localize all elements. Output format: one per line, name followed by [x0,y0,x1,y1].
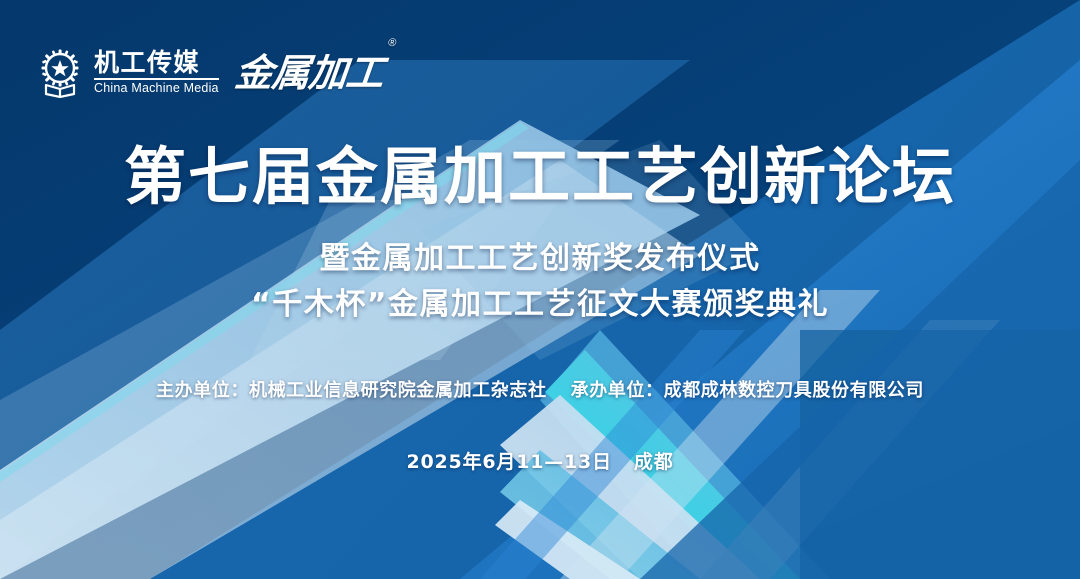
brand-divider [94,78,219,80]
co-host-label: 承办单位： [571,380,664,401]
event-poster: 机工传媒 China Machine Media 金属加工® 第七届金属加工工艺… [0,0,1080,579]
organizer-line: 主办单位：机械工业信息研究院金属加工杂志社承办单位：成都成林数控刀具股份有限公司 [0,376,1080,402]
event-date-location: 2025年6月11—13日成都 [0,447,1080,474]
brand-wordmark: 机工传媒 China Machine Media [94,50,219,96]
subtitle-secondary: “千木杯”金属加工工艺征文大赛颁奖典礼 [0,288,1080,323]
event-city: 成都 [634,451,674,473]
brand-name-cn: 机工传媒 [94,50,200,76]
page-title: 第七届金属加工工艺创新论坛 [0,146,1080,208]
event-date: 2025年6月11—13日 [407,451,612,473]
brand-name-en: China Machine Media [94,82,219,96]
co-host-name: 成都成林数控刀具股份有限公司 [664,380,924,401]
host-label: 主办单位： [156,380,249,401]
magazine-name-cn: 金属加工 [232,50,385,95]
magazine-wordmark: 金属加工® [233,54,393,92]
brand-logo: 机工传媒 China Machine Media 金属加工® [36,48,391,98]
gear-star-book-emblem-icon [36,48,84,98]
subtitle-primary: 暨金属加工工艺创新奖发布仪式 [0,242,1080,277]
registered-trademark-icon: ® [387,37,396,49]
host-name: 机械工业信息研究院金属加工杂志社 [249,380,547,401]
